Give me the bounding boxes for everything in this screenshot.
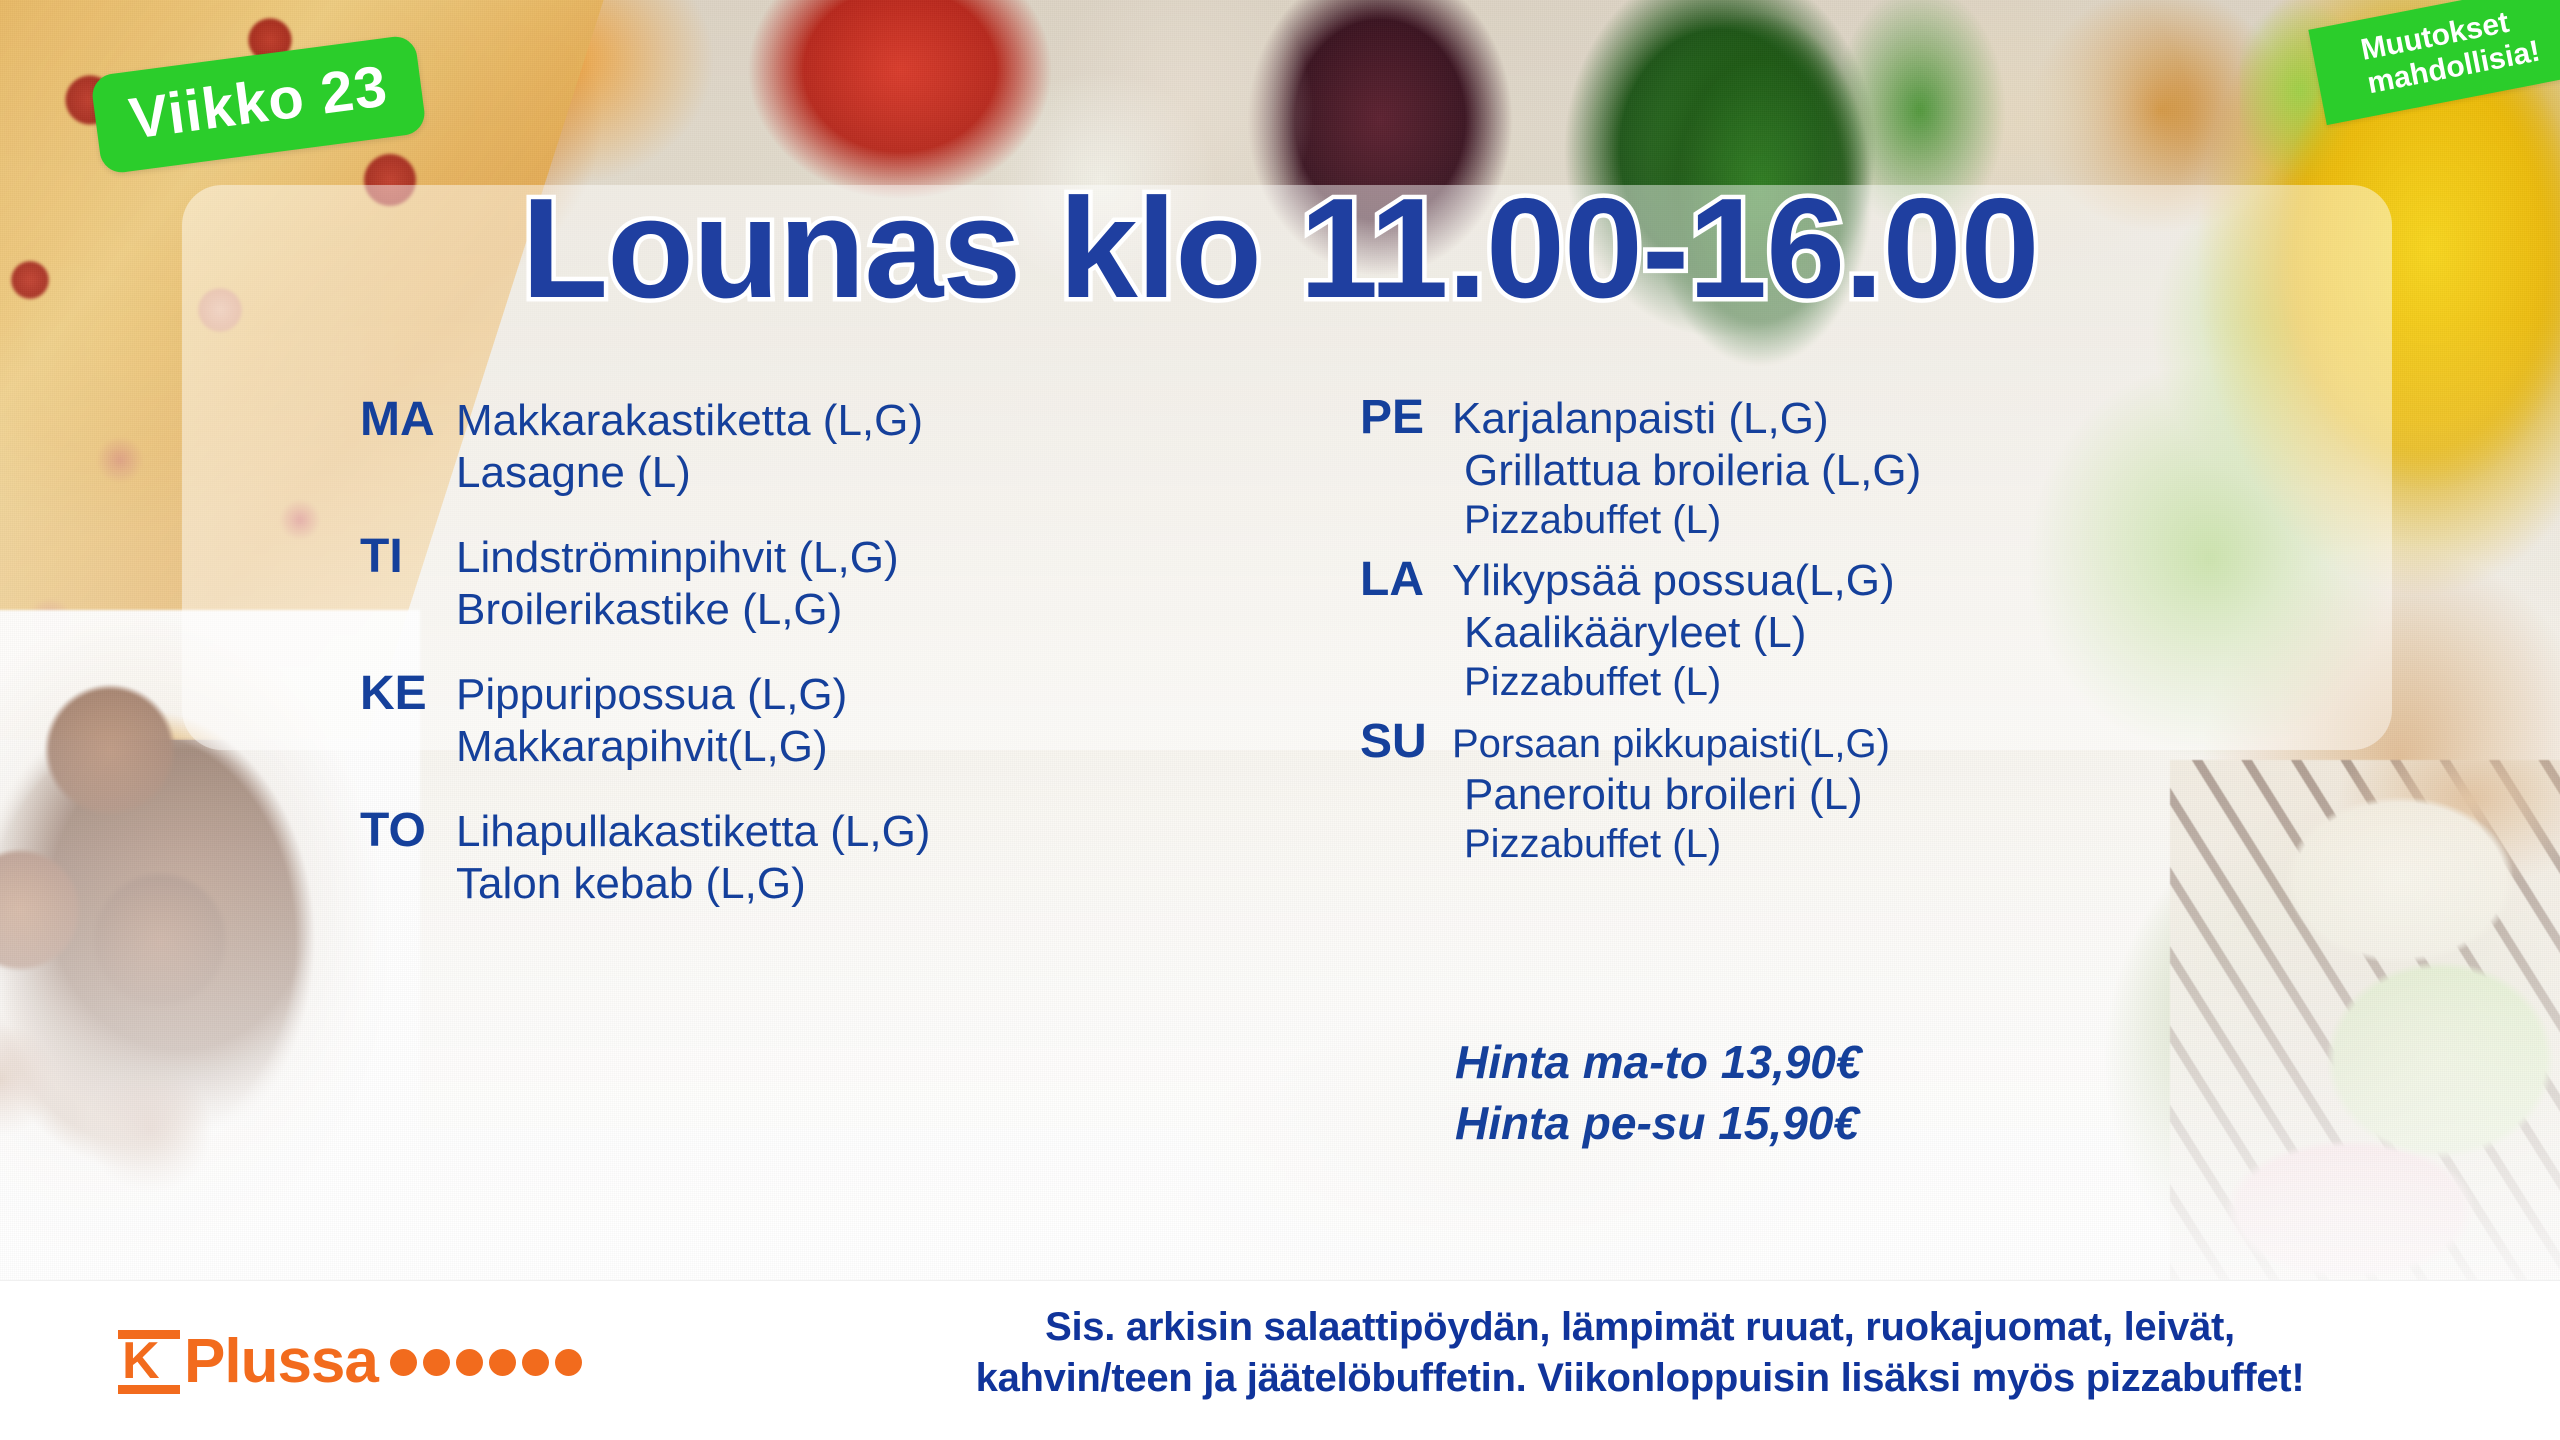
menu-day-la-first-row: LA Ylikypsää possua(L,G) — [1360, 552, 2280, 607]
menu-day-pe: PE Karjalanpaisti (L,G) Grillattua broil… — [1360, 390, 2280, 544]
price-block: Hinta ma-to 13,90€ Hinta pe-su 15,90€ — [1455, 1032, 1861, 1153]
menu-day-la: LA Ylikypsää possua(L,G) Kaalikääryleet … — [1360, 552, 2280, 706]
menu-day-la-second-row: Kaalikääryleet (L) — [1360, 607, 2280, 659]
plussa-dot — [489, 1349, 516, 1376]
dish-ke-2: Makkarapihvit(L,G) — [456, 722, 828, 771]
weekday-menu-column: MA Makkarakastiketta (L,G) Lasagne (L) T… — [360, 392, 1200, 940]
menu-day-to: TO Lihapullakastiketta (L,G) Talon kebab… — [360, 803, 1200, 910]
plussa-dot — [522, 1349, 549, 1376]
menu-day-su: SU Porsaan pikkupaisti(L,G) Paneroitu br… — [1360, 714, 2280, 868]
menu-day-ti: TI Lindströminpihvit (L,G) Broilerikasti… — [360, 529, 1200, 636]
menu-day-su-first-row: SU Porsaan pikkupaisti(L,G) — [1360, 714, 2280, 769]
plussa-dot — [555, 1349, 582, 1376]
day-abbr-ke: KE — [360, 666, 456, 721]
dish-ma-2: Lasagne (L) — [456, 448, 691, 497]
plussa-dot — [423, 1349, 450, 1376]
price-weekend: Hinta pe-su 15,90€ — [1455, 1093, 1861, 1154]
dish-to-2: Talon kebab (L,G) — [456, 859, 806, 908]
dish-pe-2: Grillattua broileria (L,G) — [1464, 446, 1921, 495]
k-logo-bottom-bar — [118, 1385, 180, 1394]
dish-pe-3: Pizzabuffet (L) — [1464, 498, 1721, 542]
menu-day-pe-third-row: Pizzabuffet (L) — [1360, 497, 2280, 544]
k-logo-letter: K — [122, 1336, 176, 1388]
dish-la-2: Kaalikääryleet (L) — [1464, 608, 1806, 657]
dish-su-3: Pizzabuffet (L) — [1464, 822, 1721, 866]
page-title: Lounas klo 11.00-16.00 — [0, 178, 2560, 320]
plussa-dot — [456, 1349, 483, 1376]
dish-su-2: Paneroitu broileri (L) — [1464, 770, 1863, 819]
dish-to-1: Lihapullakastiketta (L,G) — [456, 806, 930, 858]
menu-day-ti-second-row: Broilerikastike (L,G) — [360, 584, 1200, 636]
day-abbr-pe: PE — [1360, 390, 1452, 445]
menu-day-su-second-row: Paneroitu broileri (L) — [1360, 769, 2280, 821]
menu-day-la-third-row: Pizzabuffet (L) — [1360, 659, 2280, 706]
day-abbr-to: TO — [360, 803, 456, 858]
footer-note: Sis. arkisin salaattipöydän, lämpimät ru… — [760, 1302, 2520, 1404]
k-plussa-logo: K Plussa — [118, 1330, 588, 1394]
dish-la-1: Ylikypsää possua(L,G) — [1452, 555, 1895, 607]
menu-day-ti-first-row: TI Lindströminpihvit (L,G) — [360, 529, 1200, 584]
menu-day-ke: KE Pippuripossua (L,G) Makkarapihvit(L,G… — [360, 666, 1200, 773]
k-plussa-wordmark: Plussa — [184, 1331, 378, 1393]
menu-day-ma-first-row: MA Makkarakastiketta (L,G) — [360, 392, 1200, 447]
day-abbr-la: LA — [1360, 552, 1452, 607]
lunch-menu-poster: Viikko 23 Muutokset mahdollisia! Lounas … — [0, 0, 2560, 1440]
day-abbr-su: SU — [1360, 714, 1452, 769]
dish-ti-1: Lindströminpihvit (L,G) — [456, 532, 899, 584]
dish-pe-1: Karjalanpaisti (L,G) — [1452, 393, 1829, 445]
menu-day-ma: MA Makkarakastiketta (L,G) Lasagne (L) — [360, 392, 1200, 499]
dish-la-3: Pizzabuffet (L) — [1464, 660, 1721, 704]
day-abbr-ma: MA — [360, 392, 456, 447]
plussa-dot — [390, 1349, 417, 1376]
menu-day-pe-first-row: PE Karjalanpaisti (L,G) — [1360, 390, 2280, 445]
menu-day-to-first-row: TO Lihapullakastiketta (L,G) — [360, 803, 1200, 858]
weekend-menu-column: PE Karjalanpaisti (L,G) Grillattua broil… — [1360, 390, 2280, 876]
dish-ti-2: Broilerikastike (L,G) — [456, 585, 842, 634]
k-plussa-dots — [390, 1349, 588, 1376]
day-abbr-ti: TI — [360, 529, 456, 584]
menu-day-ke-second-row: Makkarapihvit(L,G) — [360, 721, 1200, 773]
menu-day-to-second-row: Talon kebab (L,G) — [360, 858, 1200, 910]
k-plussa-k-icon: K — [118, 1330, 180, 1394]
footer-note-line-1: Sis. arkisin salaattipöydän, lämpimät ru… — [760, 1302, 2520, 1353]
price-weekday: Hinta ma-to 13,90€ — [1455, 1032, 1861, 1093]
dish-ma-1: Makkarakastiketta (L,G) — [456, 395, 923, 447]
menu-day-pe-second-row: Grillattua broileria (L,G) — [1360, 445, 2280, 497]
dish-ke-1: Pippuripossua (L,G) — [456, 669, 847, 721]
menu-day-su-third-row: Pizzabuffet (L) — [1360, 821, 2280, 868]
footer-note-line-2: kahvin/teen ja jäätelöbuffetin. Viikonlo… — [760, 1353, 2520, 1404]
menu-day-ma-second-row: Lasagne (L) — [360, 447, 1200, 499]
menu-day-ke-first-row: KE Pippuripossua (L,G) — [360, 666, 1200, 721]
dish-su-1: Porsaan pikkupaisti(L,G) — [1452, 721, 1890, 768]
